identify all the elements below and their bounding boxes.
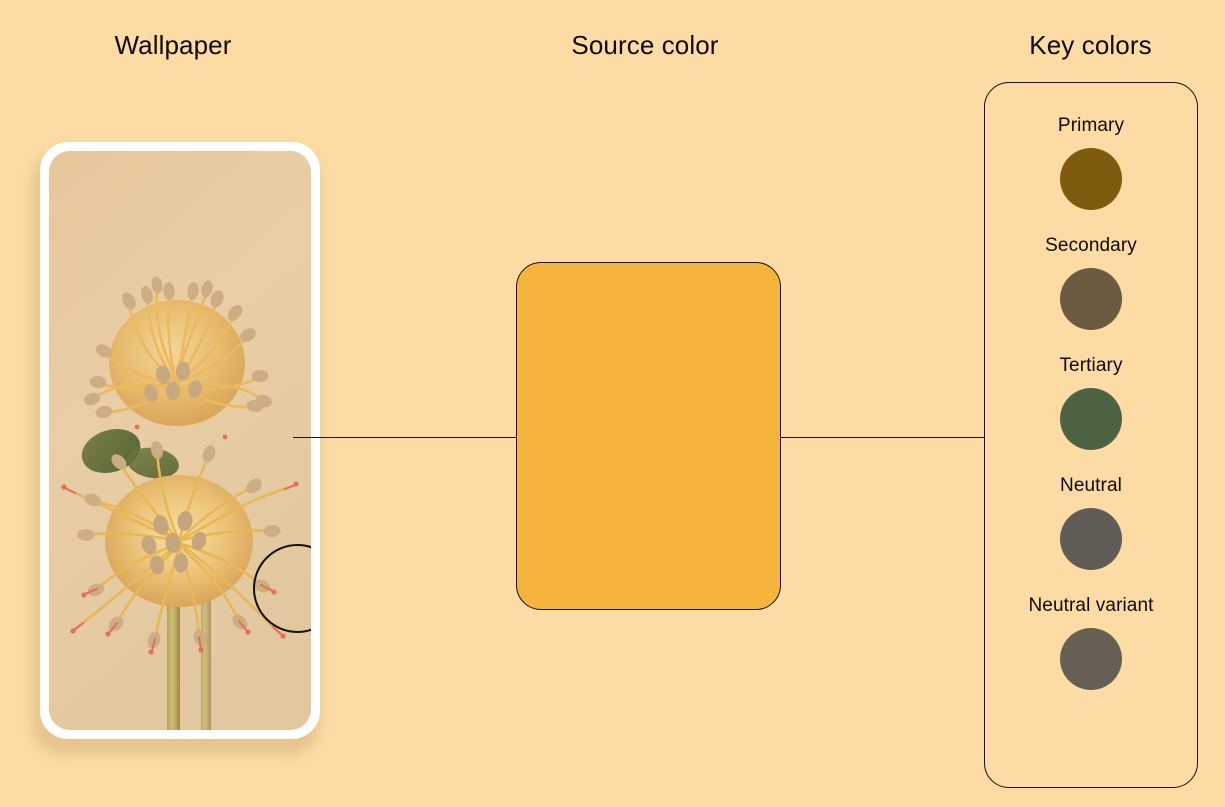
wallpaper-column-title: Wallpaper — [18, 30, 328, 61]
key-color-label-secondary: Secondary — [1045, 235, 1137, 257]
connector-line-source-to-key-colors — [780, 437, 985, 438]
key-colors-panel: Primary Secondary Tertiary Neutral Neutr… — [984, 82, 1198, 788]
key-color-swatch-secondary[interactable] — [1060, 268, 1122, 330]
key-color-swatch-neutral[interactable] — [1060, 508, 1122, 570]
source-color-column-title: Source color — [490, 30, 800, 61]
key-color-label-tertiary: Tertiary — [1059, 355, 1122, 377]
key-color-item-tertiary[interactable]: Tertiary — [985, 355, 1197, 450]
key-colors-column-title: Key colors — [958, 30, 1223, 61]
key-color-label-neutral: Neutral — [1060, 475, 1122, 497]
key-color-item-primary[interactable]: Primary — [985, 115, 1197, 210]
wallpaper-flower-image — [49, 151, 311, 730]
source-color-swatch-card[interactable] — [516, 262, 781, 610]
key-color-label-primary: Primary — [1058, 115, 1124, 137]
key-color-swatch-primary[interactable] — [1060, 148, 1122, 210]
wallpaper-screen — [49, 151, 311, 730]
key-color-label-neutral-variant: Neutral variant — [1028, 595, 1153, 617]
key-color-swatch-tertiary[interactable] — [1060, 388, 1122, 450]
key-color-item-neutral-variant[interactable]: Neutral variant — [985, 595, 1197, 690]
connector-line-wallpaper-to-source — [293, 437, 517, 438]
key-color-swatch-neutral-variant[interactable] — [1060, 628, 1122, 690]
key-color-item-neutral[interactable]: Neutral — [985, 475, 1197, 570]
diagram-stage: Wallpaper Source color Key colors — [0, 0, 1225, 807]
key-color-item-secondary[interactable]: Secondary — [985, 235, 1197, 330]
wallpaper-phone-frame — [40, 142, 320, 739]
